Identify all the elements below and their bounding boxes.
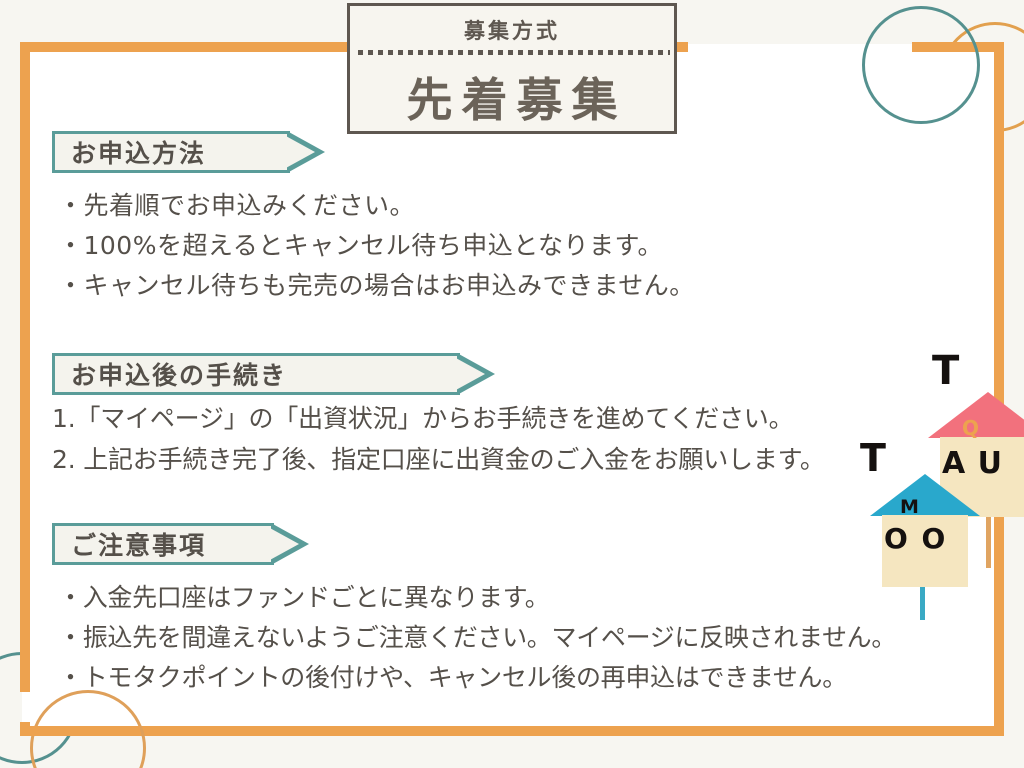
frame-border-bottom [20, 726, 1004, 736]
list-item: ・先着順でお申込みください。 [58, 186, 695, 226]
house-letter-t: T [860, 436, 886, 480]
title-box: 募集方式 先着募集 [347, 3, 677, 134]
banner-body: お申込方法 [52, 131, 290, 173]
list-item: ・キャンセル待ちも完売の場合はお申込みできません。 [58, 266, 695, 306]
section-body-precautions: ・入金先口座はファンドごとに異なります。 ・振込先を間違えないようご注意ください… [58, 578, 896, 698]
section-heading-post-application-procedure: お申込後の手続き [52, 353, 496, 395]
list-item: ・振込先を間違えないようご注意ください。マイページに反映されません。 [58, 618, 896, 658]
house-roof-icon [870, 474, 980, 516]
list-item: 1.「マイページ」の「出資状況」からお手続きを進めてください。 [52, 398, 825, 439]
banner-label: ご注意事項 [71, 526, 206, 562]
banner-label: お申込後の手続き [71, 356, 287, 392]
house-letter-t: T [932, 348, 959, 394]
house-letters-oo: O O [884, 522, 947, 555]
banner-label: お申込方法 [71, 134, 206, 170]
house-stem-tomo [920, 586, 925, 620]
section-body-application-method: ・先着順でお申込みください。 ・100%を超えるとキャンセル待ち申込となります。… [58, 186, 695, 306]
frame-border-right [994, 42, 1004, 736]
frame-border-left [20, 42, 30, 692]
list-item: ・100%を超えるとキャンセル待ち申込となります。 [58, 226, 695, 266]
section-heading-precautions: ご注意事項 [52, 523, 310, 565]
decorative-circle-teal-top-right [862, 6, 980, 124]
list-item: ・入金先口座はファンドごとに異なります。 [58, 578, 896, 618]
house-letter-q: Q [962, 416, 979, 440]
house-stem-taqu [986, 516, 991, 568]
section-heading-application-method: お申込方法 [52, 131, 326, 173]
banner-body: ご注意事項 [52, 523, 274, 565]
arrow-tip-icon [274, 523, 310, 565]
poster-canvas: 募集方式 先着募集 お申込方法 ・先着順でお申込みください。 ・100%を超える… [0, 0, 1024, 768]
mascot-house-tomo-icon: O O T M [864, 474, 980, 590]
page-title: 先着募集 [350, 64, 674, 130]
section-body-post-application-procedure: 1.「マイページ」の「出資状況」からお手続きを進めてください。 2. 上記お手続… [52, 398, 825, 480]
arrow-tip-icon [460, 353, 496, 395]
house-letter-m: M [900, 496, 919, 518]
title-dotted-divider [358, 50, 670, 55]
frame-border-left-bottom [20, 722, 30, 736]
list-item: 2. 上記お手続き完了後、指定口座に出資金のご入金をお願いします。 [52, 439, 825, 480]
banner-body: お申込後の手続き [52, 353, 460, 395]
title-kicker: 募集方式 [350, 15, 674, 45]
list-item: ・トモタクポイントの後付けや、キャンセル後の再申込はできません。 [58, 658, 896, 698]
frame-border-bottom-left [20, 726, 140, 736]
arrow-tip-icon [290, 131, 326, 173]
